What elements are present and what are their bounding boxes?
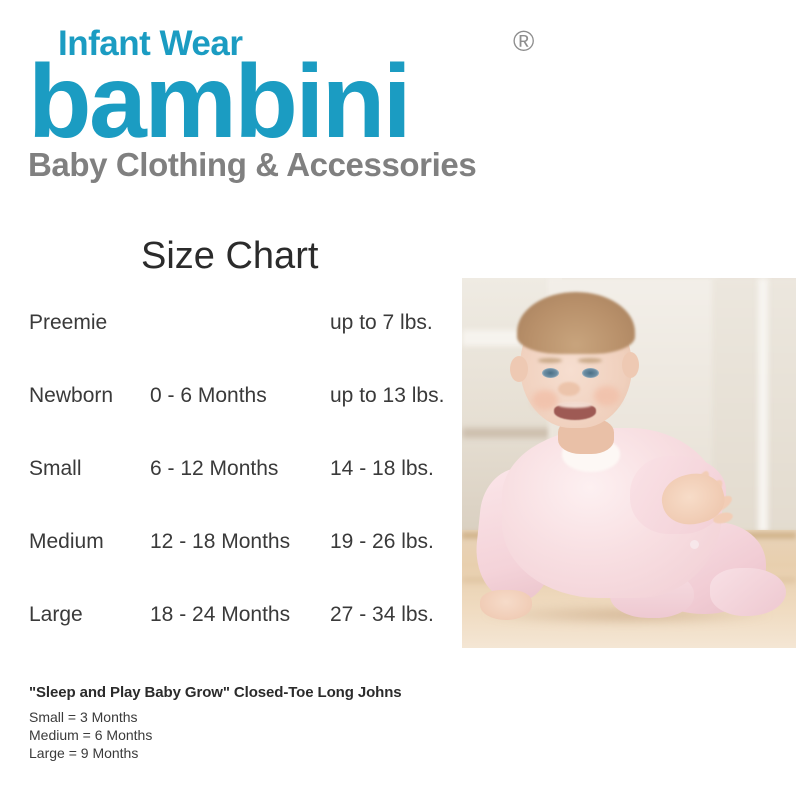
cell-age: 6 - 12 Months	[150, 458, 278, 479]
brand-logo: Infant Wear bambini ® Baby Clothing & Ac…	[0, 0, 560, 200]
cell-weight: 14 - 18 lbs.	[330, 458, 434, 479]
footer-line: Large = 9 Months	[29, 746, 138, 760]
photo-baby-nose	[558, 382, 580, 396]
cell-size: Large	[29, 604, 83, 625]
cell-weight: up to 7 lbs.	[330, 312, 433, 333]
cell-size: Newborn	[29, 385, 113, 406]
photo-baby-teeth	[558, 402, 592, 408]
table-row: Medium 12 - 18 Months 19 - 26 lbs.	[0, 531, 460, 604]
photo-wall-edge	[758, 278, 768, 563]
cell-weight: up to 13 lbs.	[330, 385, 444, 406]
photo-baby-eye-left	[542, 368, 559, 378]
photo-snap-button-2	[690, 540, 699, 549]
size-chart-page: Infant Wear bambini ® Baby Clothing & Ac…	[0, 0, 800, 800]
footer-heading: "Sleep and Play Baby Grow" Closed-Toe Lo…	[29, 685, 402, 700]
cell-size: Preemie	[29, 312, 107, 333]
photo-baby-hand-left	[480, 590, 532, 620]
photo-baby-ear-right	[622, 352, 639, 378]
footer-line: Small = 3 Months	[29, 710, 138, 724]
cell-age: 18 - 24 Months	[150, 604, 290, 625]
page-title: Size Chart	[141, 237, 318, 275]
cell-weight: 27 - 34 lbs.	[330, 604, 434, 625]
size-chart-table: Preemie up to 7 lbs. Newborn 0 - 6 Month…	[0, 312, 460, 677]
brand-wordmark: bambini	[28, 50, 409, 154]
table-row: Newborn 0 - 6 Months up to 13 lbs.	[0, 385, 460, 458]
photo-baby-eye-right	[582, 368, 599, 378]
photo-baby-brow-left	[538, 358, 562, 363]
photo-baby-ear-left	[510, 356, 528, 382]
photo-baby-foot	[710, 568, 786, 616]
baby-photo	[462, 278, 796, 648]
photo-baby-brow-right	[578, 358, 602, 363]
cell-size: Small	[29, 458, 82, 479]
cell-size: Medium	[29, 531, 104, 552]
footer-line: Medium = 6 Months	[29, 728, 152, 742]
cell-age: 12 - 18 Months	[150, 531, 290, 552]
photo-baby-cheek-right	[594, 386, 620, 406]
registered-trademark-icon: ®	[513, 28, 534, 57]
table-row: Small 6 - 12 Months 14 - 18 lbs.	[0, 458, 460, 531]
table-row: Preemie up to 7 lbs.	[0, 312, 460, 385]
cell-age: 0 - 6 Months	[150, 385, 267, 406]
table-row: Large 18 - 24 Months 27 - 34 lbs.	[0, 604, 460, 677]
cell-weight: 19 - 26 lbs.	[330, 531, 434, 552]
photo-shelf-lower	[462, 428, 554, 438]
brand-tagline: Baby Clothing & Accessories	[28, 148, 476, 181]
